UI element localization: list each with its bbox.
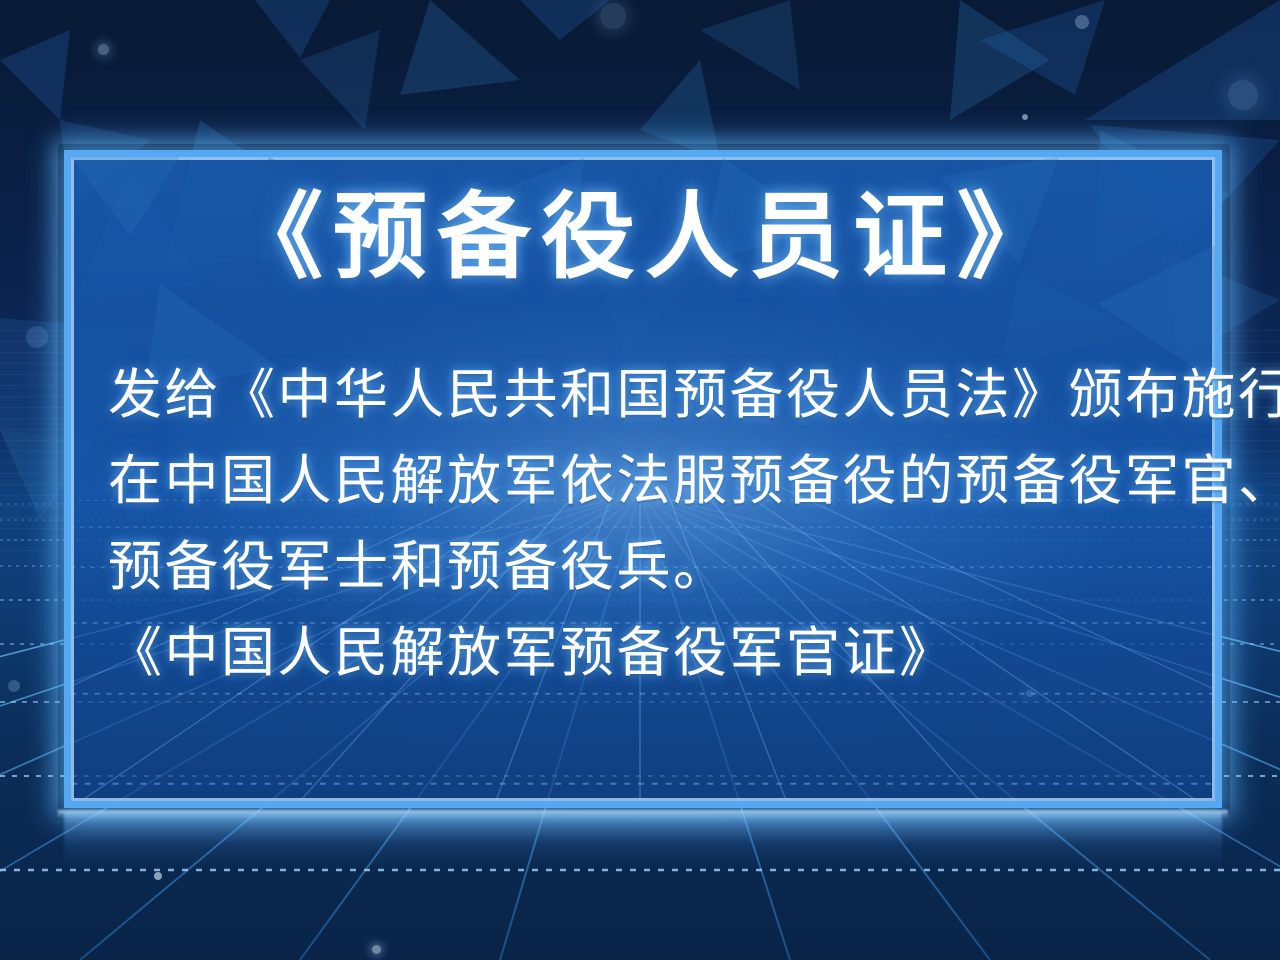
slide-canvas: 《预备役人员证》 发给《中华人民共和国预备役人员法》颁布施行后， 在中国人民解放… [0,0,1280,960]
body-text-block: 发给《中华人民共和国预备役人员法》颁布施行后， 在中国人民解放军依法服预备役的预… [108,352,1198,696]
page-title: 《预备役人员证》 [0,188,1280,290]
body-line-4: 《中国人民解放军预备役军官证》 [108,610,1198,696]
body-line-3: 预备役军士和预备役兵。 [108,524,1198,610]
body-line-1: 发给《中华人民共和国预备役人员法》颁布施行后， [108,352,1198,438]
body-line-2: 在中国人民解放军依法服预备役的预备役军官、 [108,438,1198,524]
slide-content: 《预备役人员证》 发给《中华人民共和国预备役人员法》颁布施行后， 在中国人民解放… [0,0,1280,960]
